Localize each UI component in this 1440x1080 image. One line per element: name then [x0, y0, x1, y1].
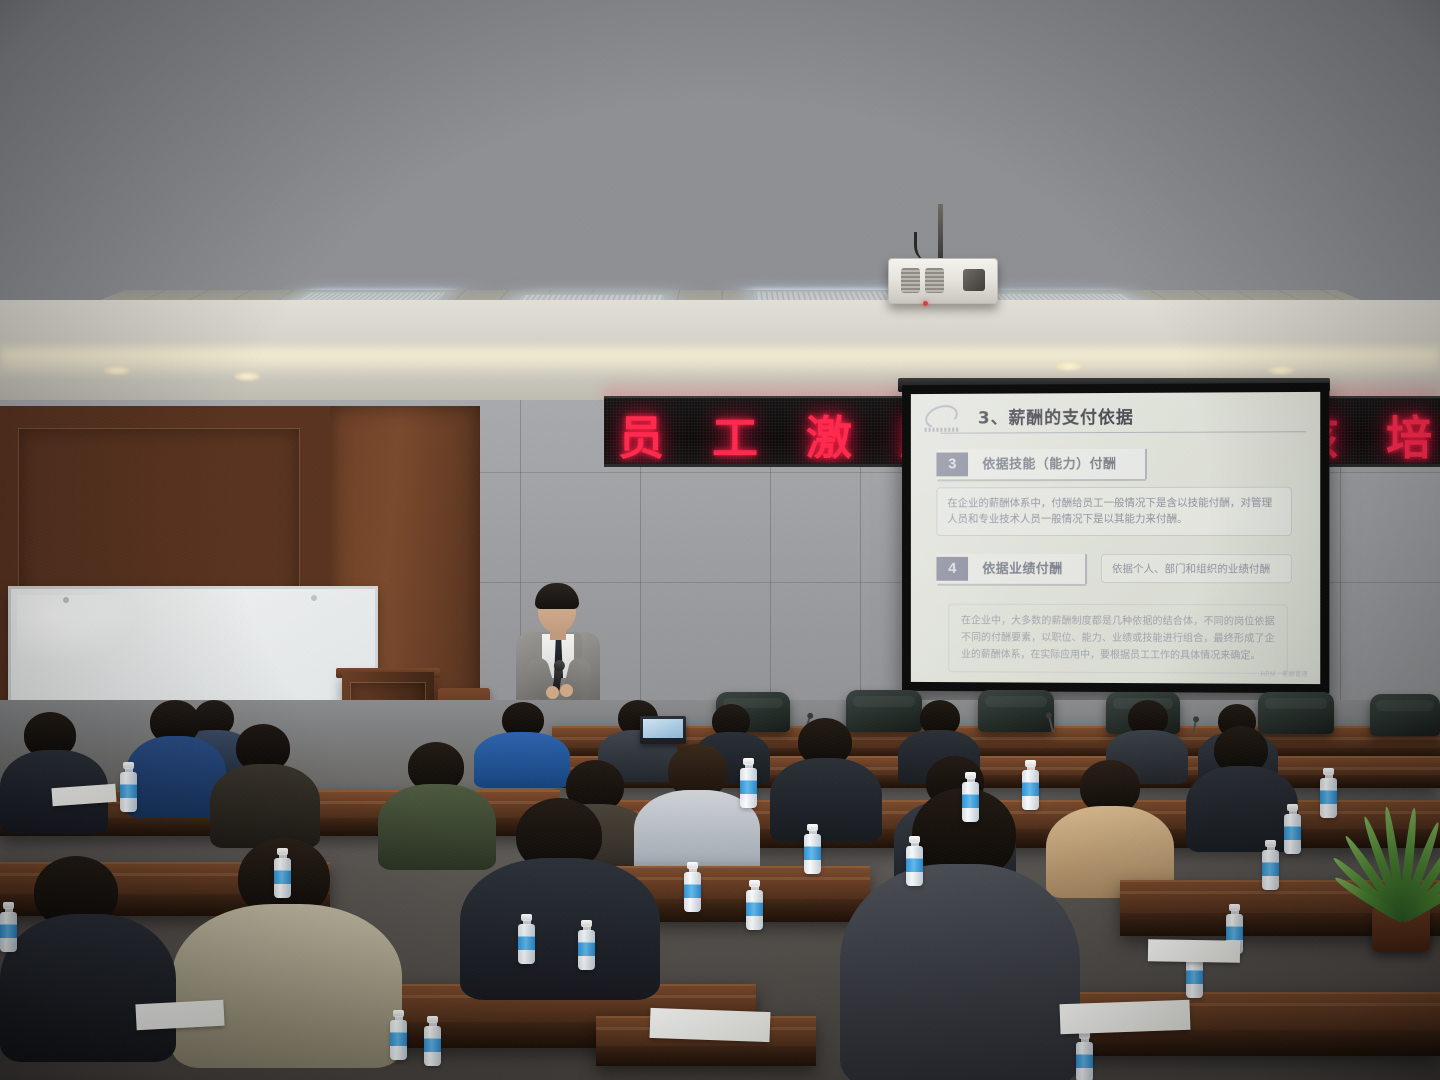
audience-body: [460, 858, 660, 1000]
whiteboard-sheen: [17, 595, 137, 665]
cove-light-glow: [0, 348, 1440, 374]
audience-body: [172, 904, 402, 1068]
slide-item-3: 3 依据技能（能力）付酬: [936, 449, 1147, 479]
laptop: [640, 716, 686, 744]
presenter-hair: [535, 583, 579, 609]
notebook-paper: [1060, 1000, 1191, 1035]
audience-body: [1186, 766, 1298, 852]
slide-item-label: 依据技能（能力）付酬: [982, 453, 1116, 472]
audience-body: [0, 914, 176, 1062]
slide-item-label: 依据业绩付酬: [982, 558, 1062, 577]
downlight-icon: [1056, 362, 1082, 371]
presenter-hand-right: [560, 684, 573, 697]
audience-member: [210, 724, 320, 846]
downlight-icon: [104, 366, 130, 375]
conference-hall-photo: 员 工 激 励 核 培 3、薪酬的支付依据 3 依据技能（能力）付酬 在企业的薪…: [0, 0, 1440, 1080]
projector-power-led: [923, 301, 928, 306]
leather-chair: [1370, 694, 1440, 736]
slide-item-4-chip: 4 依据业绩付酬: [936, 553, 1087, 583]
slide-item-3-body: 在企业的薪酬体系中，付酬给员工一般情况下是含以技能付酬，对管理人员和专业技术人员…: [936, 487, 1291, 536]
potted-plant: [1356, 760, 1440, 920]
audience-body: [210, 764, 320, 848]
projection-screen: 3、薪酬的支付依据 3 依据技能（能力）付酬 在企业的薪酬体系中，付酬给员工一般…: [902, 383, 1329, 693]
audience-member: [0, 712, 110, 832]
presenter-hand-left: [546, 686, 559, 699]
slide-title-rule: [940, 431, 1306, 433]
projector-lens: [963, 269, 985, 291]
powerpoint-slide: 3、薪酬的支付依据 3 依据技能（能力）付酬 在企业的薪酬体系中，付酬给员工一般…: [911, 392, 1320, 684]
slide-item-number: 3: [936, 452, 968, 476]
downlight-icon: [234, 372, 260, 381]
slide-title: 3、薪酬的支付依据: [978, 402, 1306, 429]
slide-item-4: 4 依据业绩付酬 依据个人、部门和组织的业绩付酬: [936, 553, 1306, 583]
whiteboard-clip: [63, 597, 69, 603]
slide-item-number: 4: [936, 556, 968, 580]
audience-body: [840, 864, 1080, 1080]
notebook-paper: [650, 1008, 771, 1042]
downlight-icon: [1268, 366, 1294, 375]
company-logo-icon: [925, 406, 959, 428]
slide-footer-text: 在企业中，大多数的薪酬制度都是几种依据的结合体，不同的岗位依据不同的付酬要素，以…: [948, 603, 1288, 673]
ceiling-projector: [888, 258, 998, 304]
notebook-paper: [135, 1000, 224, 1031]
projector-vent: [901, 268, 920, 293]
slide-credit: HRM · 薪酬管理: [1261, 669, 1309, 678]
audience-member: [840, 788, 1080, 1080]
audience-member: [460, 798, 660, 994]
slide-item-4-note: 依据个人、部门和组织的业绩付酬: [1101, 554, 1292, 583]
projector-vent: [925, 268, 944, 293]
audience-member: [1186, 726, 1298, 850]
whiteboard-clip: [311, 595, 317, 601]
leather-chair: [978, 690, 1054, 732]
notebook-paper: [1148, 939, 1240, 963]
